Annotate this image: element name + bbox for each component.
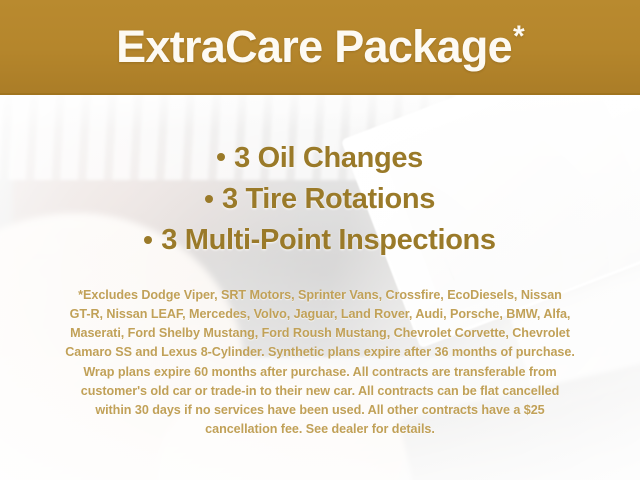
benefit-item-tire-rotations: 3 Tire Rotations: [0, 179, 640, 220]
benefit-label: 3 Tire Rotations: [222, 183, 435, 215]
disclaimer-line: *Excludes Dodge Viper, SRT Motors, Sprin…: [26, 286, 614, 305]
bullet-dot-icon: [217, 153, 225, 161]
disclaimer-line: cancellation fee. See dealer for details…: [26, 420, 614, 439]
benefits-list: 3 Oil Changes 3 Tire Rotations 3 Multi-P…: [0, 138, 640, 262]
benefit-label: 3 Oil Changes: [234, 142, 423, 174]
bullet-dot-icon: [144, 236, 152, 244]
disclaimer-line: within 30 days if no services have been …: [26, 401, 614, 420]
benefit-item-oil-changes: 3 Oil Changes: [0, 138, 640, 179]
page-title-asterisk: *: [513, 20, 524, 53]
disclaimer-line: customer's old car or trade-in to their …: [26, 382, 614, 401]
page-title: ExtraCare Package*: [116, 24, 524, 69]
disclaimer-line: GT-R, Nissan LEAF, Mercedes, Volvo, Jagu…: [26, 305, 614, 324]
disclaimer-line: Camaro SS and Lexus 8-Cylinder. Syntheti…: [26, 343, 614, 362]
disclaimer-fine-print: *Excludes Dodge Viper, SRT Motors, Sprin…: [26, 286, 614, 439]
page-title-text: ExtraCare Package: [116, 21, 512, 72]
disclaimer-line: Maserati, Ford Shelby Mustang, Ford Rous…: [26, 324, 614, 343]
benefit-label: 3 Multi-Point Inspections: [161, 224, 495, 256]
disclaimer-line: Wrap plans expire 60 months after purcha…: [26, 363, 614, 382]
benefit-item-multi-point-inspections: 3 Multi-Point Inspections: [0, 220, 640, 261]
bullet-dot-icon: [205, 195, 213, 203]
header-banner: ExtraCare Package*: [0, 0, 640, 95]
extracare-package-promo-card: ExtraCare Package* 3 Oil Changes 3 Tire …: [0, 0, 640, 480]
